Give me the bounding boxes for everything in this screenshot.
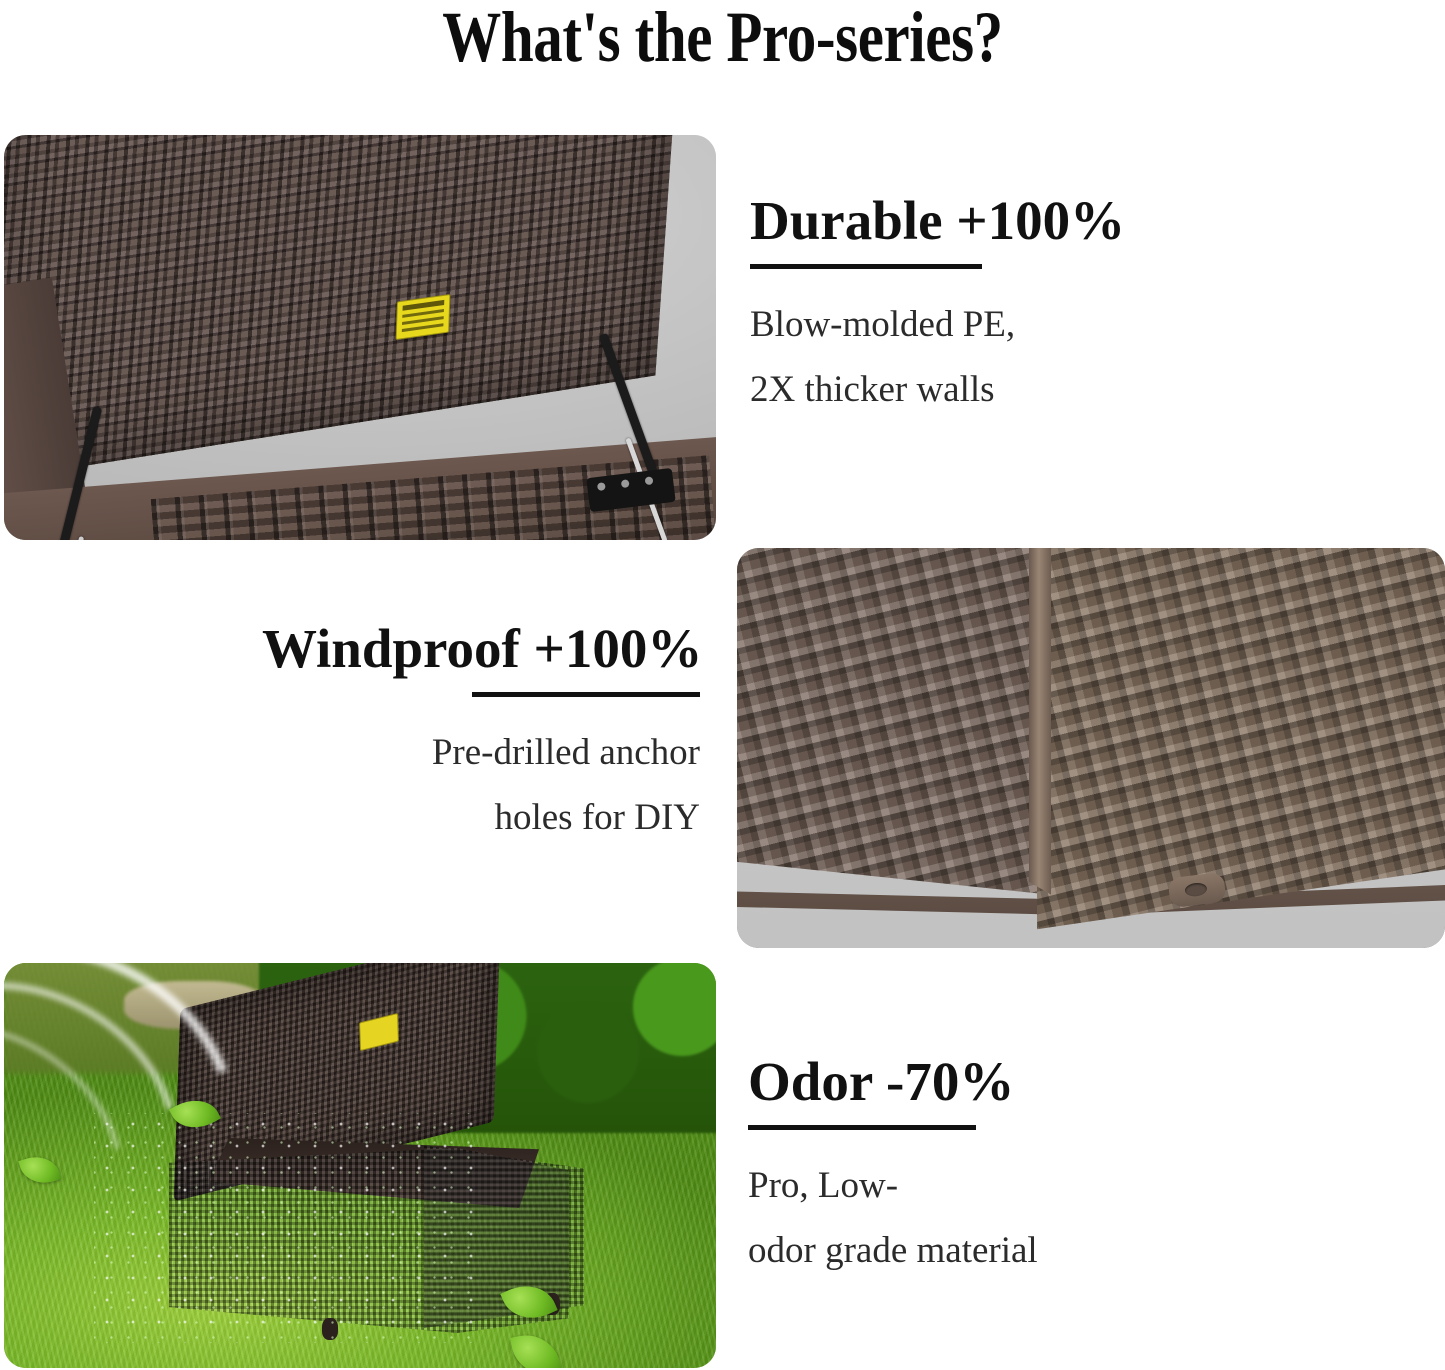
feature-body-odor-line1: Pro, Low- <box>748 1154 1038 1219</box>
feature-body-odor-line2: odor grade material <box>748 1219 1038 1284</box>
feature-body-windproof-line1: Pre-drilled anchor <box>262 721 700 786</box>
corner-texture-photo <box>737 548 1445 948</box>
lawn-lifestyle-photo <box>4 963 716 1368</box>
feature-body-windproof-line2: holes for DIY <box>262 786 700 851</box>
feature-heading-durable: Durable +100% <box>750 192 1125 250</box>
feature-block-windproof: Windproof +100% Pre-drilled anchor holes… <box>262 620 700 850</box>
feature-body-durable-line2: 2X thicker walls <box>750 358 1125 423</box>
feature-heading-odor: Odor -70% <box>748 1053 1038 1111</box>
heading-underline-durable <box>750 264 982 269</box>
feature-heading-windproof: Windproof +100% <box>262 620 700 678</box>
feature-body-durable-line1: Blow-molded PE, <box>750 293 1125 358</box>
page-title: What's the Pro-series? <box>130 0 1315 79</box>
open-deck-box-photo <box>4 135 716 540</box>
feature-block-durable: Durable +100% Blow-molded PE, 2X thicker… <box>750 192 1125 422</box>
product-feature-infographic: What's the Pro-series? Durable +100% Blo… <box>0 0 1445 1370</box>
heading-underline-odor <box>748 1125 976 1130</box>
feature-block-odor: Odor -70% Pro, Low- odor grade material <box>748 1053 1038 1283</box>
heading-underline-windproof <box>472 692 700 697</box>
warning-label-sticker <box>396 294 451 340</box>
